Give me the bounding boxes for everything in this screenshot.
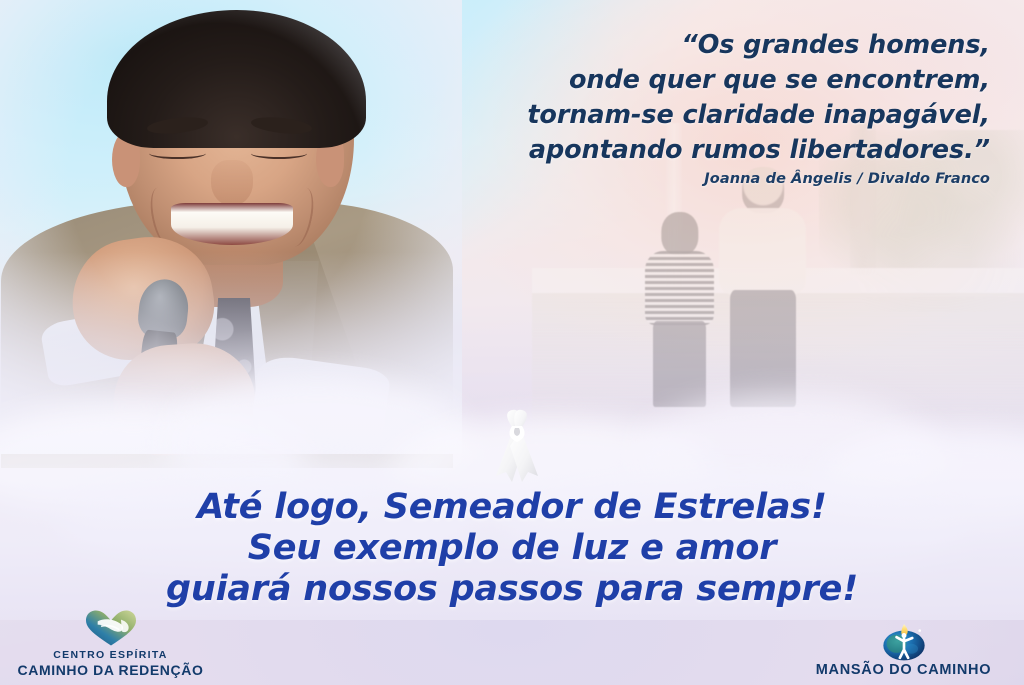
white-mourning-ribbon-icon (482, 408, 552, 486)
heart-hands-icon (8, 607, 213, 649)
logo-left-line-1: CENTRO ESPÍRITA (8, 649, 213, 662)
logo-left-line-2: CAMINHO DA REDENÇÃO (8, 662, 213, 679)
farewell-line-3: guiará nossos passos para sempre! (0, 569, 1024, 610)
portrait-divaldo-franco (0, 0, 462, 454)
farewell-line-1: Até logo, Semeador de Estrelas! (0, 487, 1024, 528)
quote-line-4: apontando rumos libertadores.” (430, 133, 990, 168)
logo-centro-espirita-caminho-da-redencao: CENTRO ESPÍRITA CAMINHO DA REDENÇÃO (8, 607, 213, 679)
quote-attribution: Joanna de Ângelis / Divaldo Franco (430, 171, 990, 187)
quote-text: “Os grandes homens, onde quer que se enc… (430, 28, 990, 168)
logo-right-line-1: MANSÃO DO CAMINHO (791, 661, 1016, 679)
farewell-message: Até logo, Semeador de Estrelas! Seu exem… (0, 487, 1024, 610)
logo-mansao-do-caminho: MANSÃO DO CAMINHO (791, 619, 1016, 679)
figure-child (645, 212, 714, 407)
quote-line-3: tornam-se claridade inapagável, (430, 98, 990, 133)
farewell-line-2: Seu exemplo de luz e amor (0, 528, 1024, 569)
quote-line-1: “Os grandes homens, (430, 28, 990, 63)
figure-adult (719, 167, 806, 406)
quote-line-2: onde quer que se encontrem, (430, 63, 990, 98)
globe-figure-flame-icon (791, 619, 1016, 661)
memorial-poster: “Os grandes homens, onde quer que se enc… (0, 0, 1024, 685)
